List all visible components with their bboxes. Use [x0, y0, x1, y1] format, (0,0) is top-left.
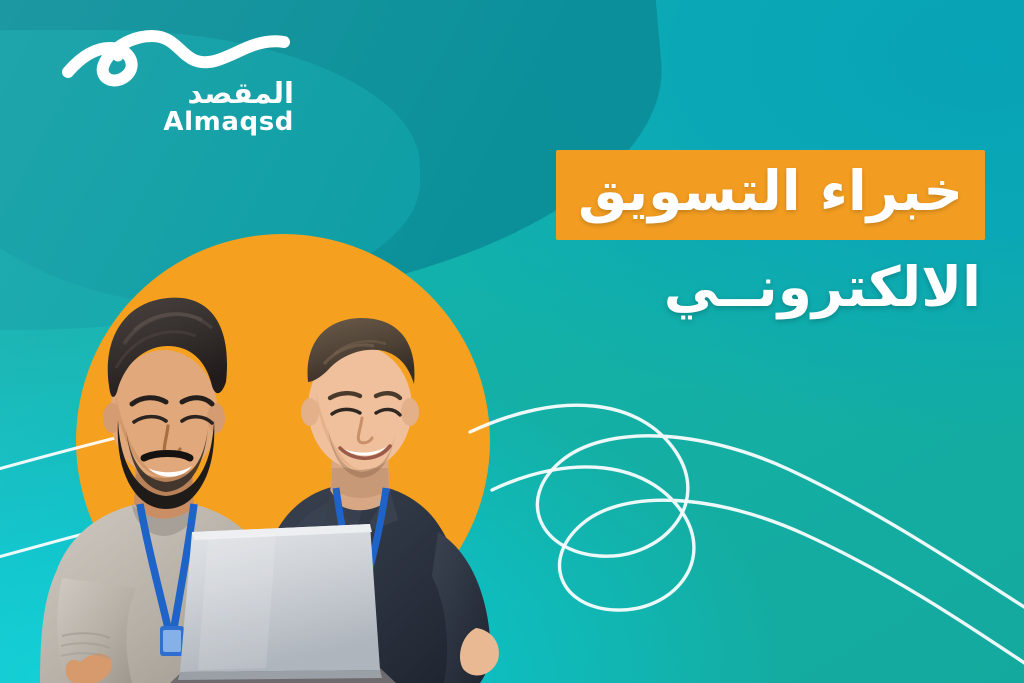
brand-logo[interactable]: المقصد Almaqsd — [44, 22, 294, 142]
laptop — [170, 524, 396, 683]
brand-name-latin: Almaqsd — [44, 109, 294, 136]
brand-name-arabic: المقصد — [44, 78, 294, 108]
marketing-banner: المقصد Almaqsd خبراء التسويق الالكترونــ… — [0, 0, 1024, 683]
headline-line-1: خبراء التسويق — [578, 156, 963, 226]
headline-orange-band: خبراء التسويق — [556, 150, 985, 240]
headline: خبراء التسويق الالكترونــي — [425, 150, 985, 324]
headline-line-2: الالكترونــي — [425, 252, 985, 324]
brand-logo-wordmark: المقصد Almaqsd — [44, 78, 294, 137]
